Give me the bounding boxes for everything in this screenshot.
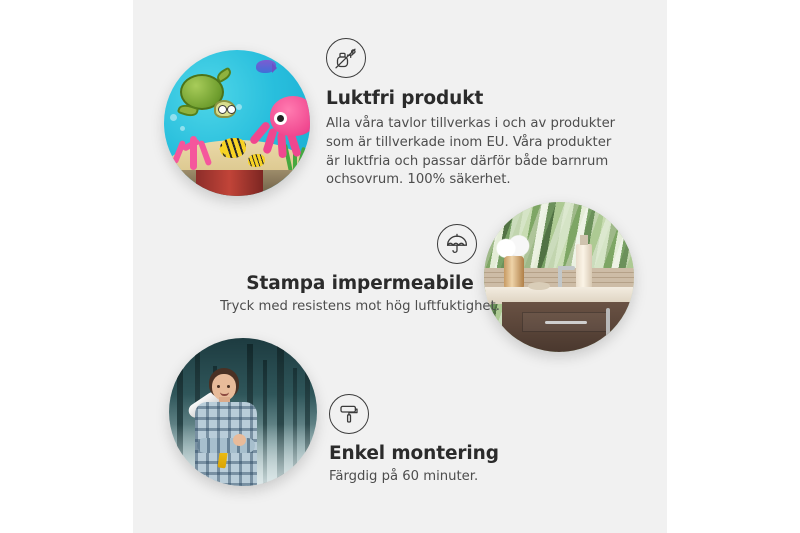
blue-fish-icon [256, 60, 276, 73]
folded-arms [197, 438, 255, 453]
faucet-icon [558, 266, 562, 288]
underwater-kids-scene-image [164, 50, 310, 196]
feature-easy-mounting: Enkel montering Färgdig på 60 minuter. [329, 394, 609, 487]
bubble-icon [170, 114, 177, 121]
infographic-panel: Luktfri produkt Alla våra tavlor tillver… [133, 0, 667, 533]
feature-title: Stampa impermeabile [195, 272, 525, 295]
icon-wrapper [195, 224, 525, 264]
forest-scene [169, 338, 317, 486]
feature-title: Enkel montering [329, 442, 609, 465]
feature-title: Luktfri produkt [326, 87, 626, 110]
small-fish-icon [248, 154, 265, 167]
toiletry-bottle [576, 244, 592, 288]
feature-body: Färgdig på 60 minuter. [329, 468, 609, 487]
sea-floor [164, 170, 310, 196]
umbrella-icon [437, 224, 477, 264]
soap-dish [528, 282, 550, 290]
octopus-icon [254, 96, 310, 152]
feature-odour-free: Luktfri produkt Alla våra tavlor tillver… [326, 38, 626, 190]
feature-body: Alla våra tavlor tillverkas i och av pro… [326, 115, 617, 190]
paint-roller-icon [329, 394, 369, 434]
hand [233, 434, 246, 446]
woman-with-paint-roller-forest-image [169, 338, 317, 486]
screenshot-stage: Luktfri produkt Alla våra tavlor tillver… [0, 0, 800, 533]
woman-figure [189, 368, 265, 486]
cabinet-handle [606, 308, 610, 342]
turtle-icon [178, 74, 238, 116]
feature-body: Tryck med resistens mot hög luftfuktighe… [195, 298, 525, 317]
feature-waterproof-print: Stampa impermeabile Tryck med resistens … [195, 224, 525, 317]
underwater-scene [164, 50, 310, 196]
yellow-fish-icon [220, 138, 246, 158]
pink-coral-icon [172, 128, 218, 170]
vanity-drawer [522, 312, 608, 332]
no-fragrance-icon [326, 38, 366, 78]
